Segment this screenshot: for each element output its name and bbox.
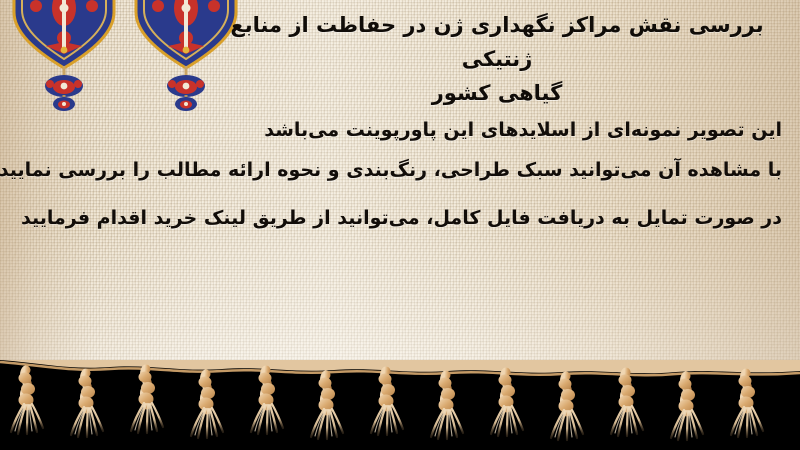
slide-title: بررسی نقش مراکز نگهداری ژن در حفاظت از م… — [210, 8, 784, 110]
slide-title-line-2: گیاهی کشور — [210, 76, 784, 110]
body-line-1: این تصویر نمونه‌ای از اسلایدهای این پاور… — [16, 110, 782, 150]
slide-title-line-1: بررسی نقش مراکز نگهداری ژن در حفاظت از م… — [210, 8, 784, 76]
body-line-3: در صورت تمایل به دریافت فایل کامل، می‌تو… — [16, 198, 782, 238]
slide-canvas: بررسی نقش مراکز نگهداری ژن در حفاظت از م… — [0, 0, 800, 450]
carpet-fringe — [0, 360, 800, 450]
slide-body-text: این تصویر نمونه‌ای از اسلایدهای این پاور… — [16, 110, 782, 238]
body-line-2: با مشاهده آن می‌توانید سبک طراحی، رنگ‌بن… — [16, 150, 782, 190]
persian-medallion-ornament-left — [6, 0, 122, 112]
